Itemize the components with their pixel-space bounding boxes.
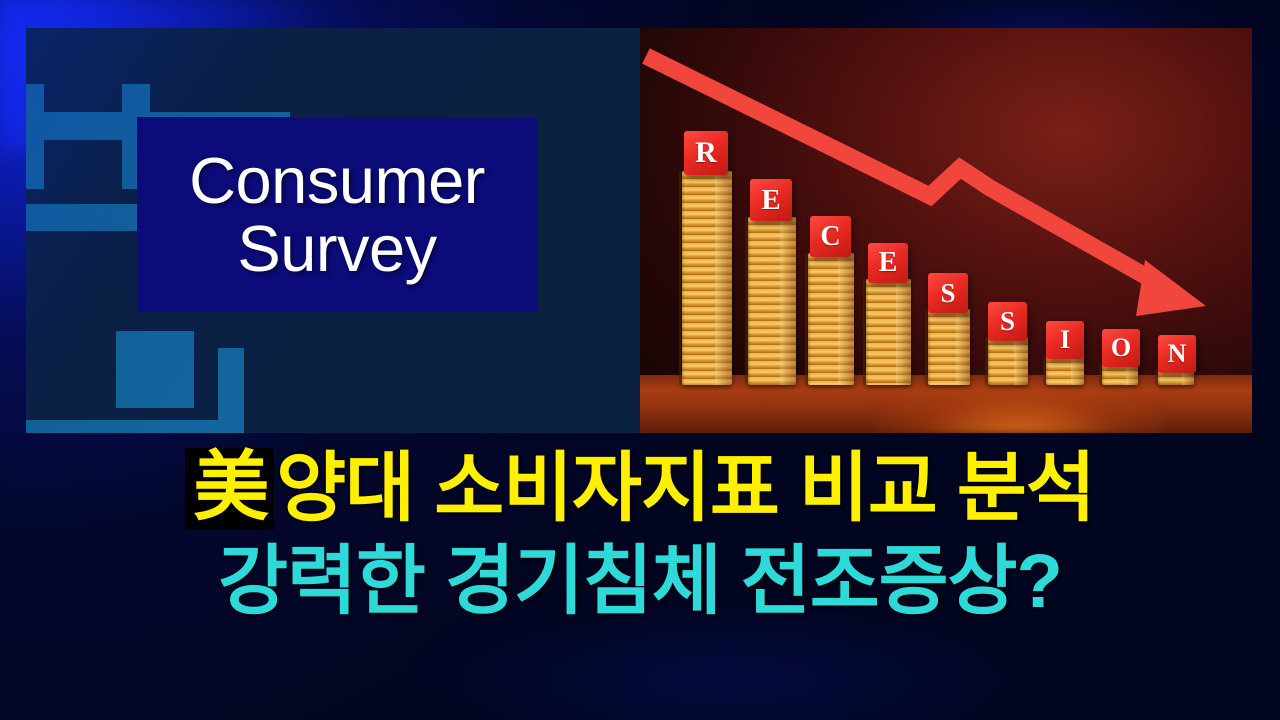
headline-line-1: 美 양대 소비자지표 비교 분석 [0, 448, 1280, 530]
slide-panel: Consumer Survey [26, 28, 640, 433]
slide-title-card: Consumer Survey [137, 117, 537, 312]
decor-square [116, 331, 194, 408]
decor-bar-middle [26, 204, 138, 231]
headline-block: 美 양대 소비자지표 비교 분석 강력한 경기침체 전조증상? [0, 448, 1280, 620]
headline-country-badge: 美 [185, 448, 274, 530]
slide-title-line-1: Consumer [189, 147, 485, 215]
recession-photo: R E C E S S I O N [640, 28, 1252, 433]
headline-line-2: 강력한 경기침체 전조증상? [0, 544, 1280, 620]
downward-trend-arrow-icon [640, 28, 1252, 433]
decor-bar-horizontal-bottom [26, 420, 244, 433]
slide-title-line-2: Survey [237, 215, 436, 283]
youtube-thumbnail: Consumer Survey R E C E S S I O N [0, 0, 1280, 720]
headline-line-1-text: 양대 소비자지표 비교 분석 [276, 451, 1094, 527]
